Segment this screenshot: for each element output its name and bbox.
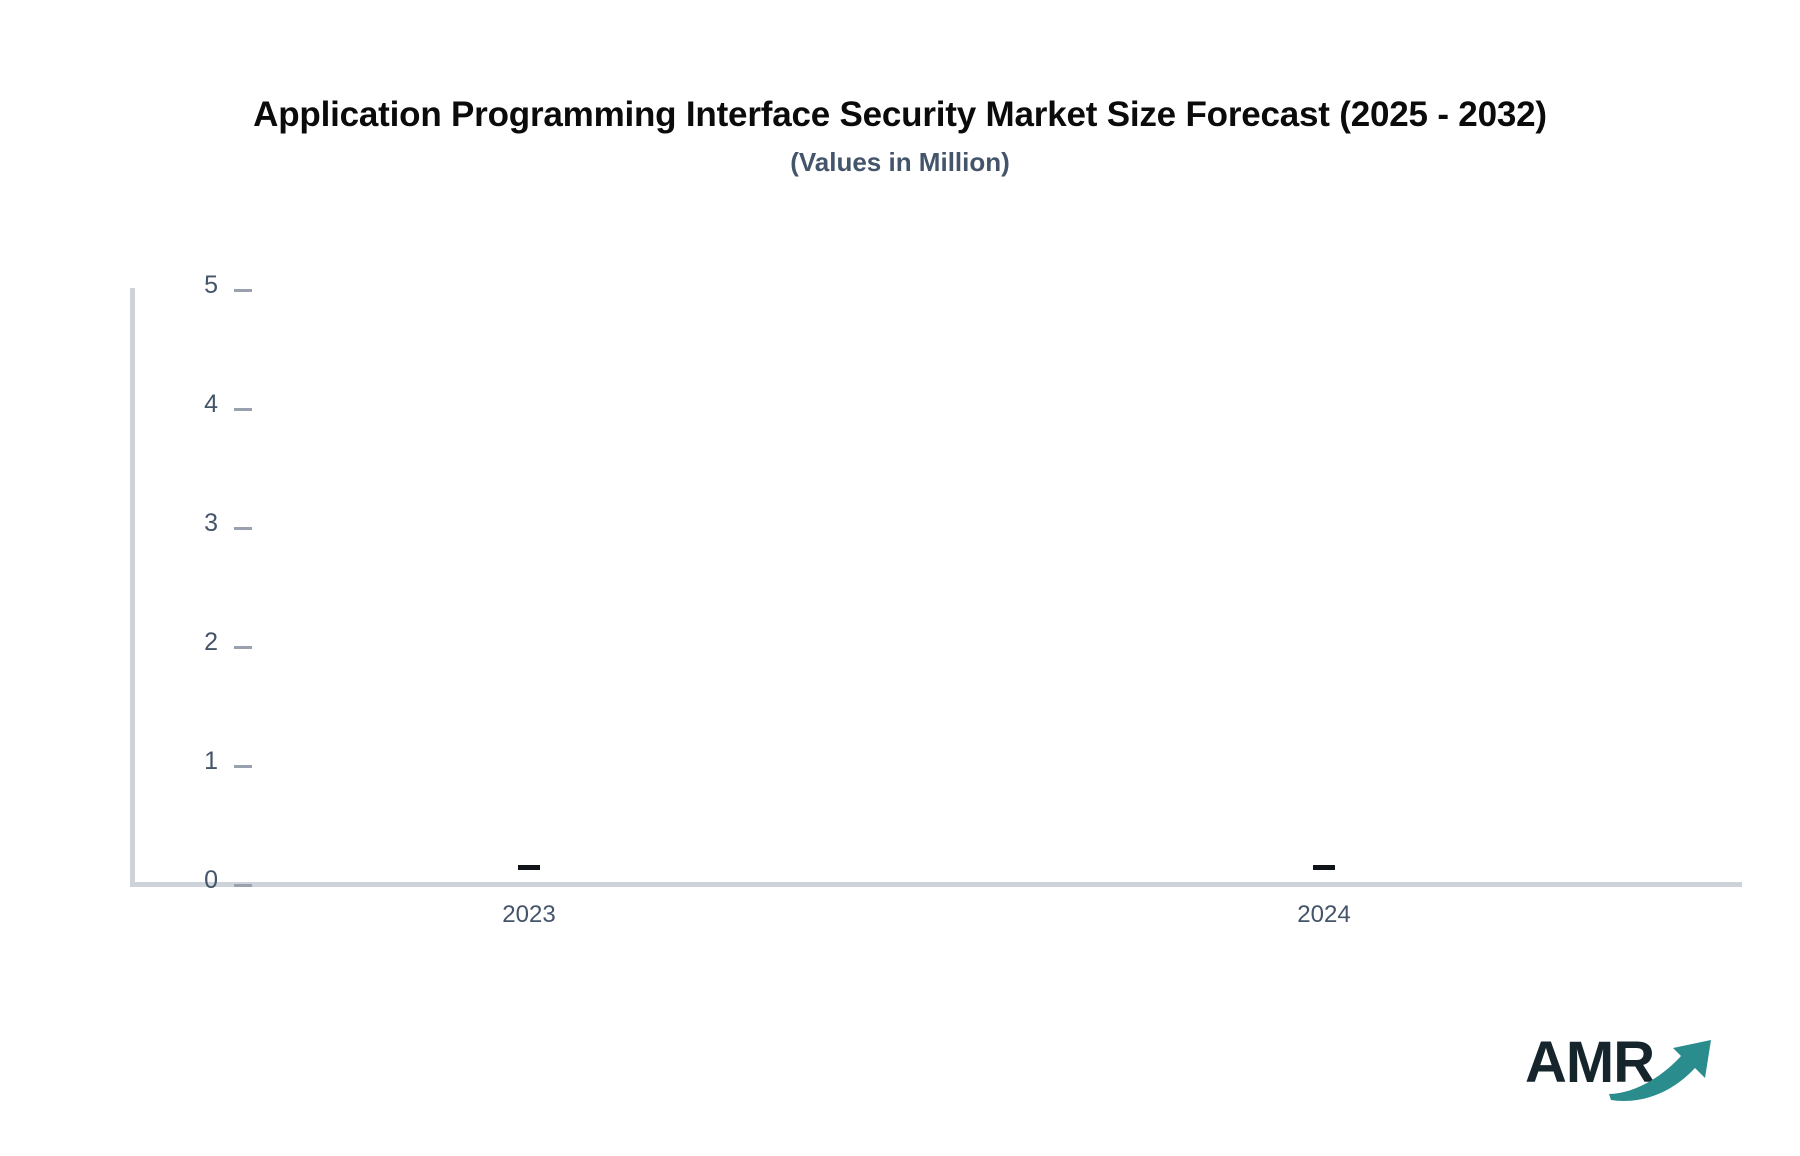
y-tick-label: 2 <box>204 630 218 655</box>
growth-arrow-icon <box>1607 1034 1727 1106</box>
x-tick-label-2024: 2024 <box>1297 903 1350 927</box>
plot-area: 5 4 3 2 1 0 <box>130 290 1742 885</box>
x-tick-label-2023: 2023 <box>502 903 555 927</box>
y-tick-mark-icon <box>234 527 252 530</box>
y-tick-label: 4 <box>204 392 218 417</box>
y-tick-label: 5 <box>204 273 218 298</box>
chart-title: Application Programming Interface Securi… <box>0 96 1800 135</box>
y-tick-mark-icon <box>234 289 252 292</box>
bar-2024[interactable] <box>1313 865 1335 870</box>
y-tick-mark-icon <box>234 765 252 768</box>
chart-subtitle: (Values in Million) <box>0 148 1800 177</box>
y-tick-label: 0 <box>204 868 218 893</box>
y-tick-mark-icon <box>234 408 252 411</box>
amr-logo: AMR <box>1525 1030 1725 1110</box>
chart-header: Application Programming Interface Securi… <box>0 96 1800 176</box>
y-tick-mark-icon <box>234 884 252 887</box>
chart-canvas: Application Programming Interface Securi… <box>0 0 1800 1156</box>
y-tick-mark-icon <box>234 646 252 649</box>
y-tick-label: 1 <box>204 749 218 774</box>
y-tick-label: 3 <box>204 511 218 536</box>
bar-2023[interactable] <box>518 865 540 870</box>
